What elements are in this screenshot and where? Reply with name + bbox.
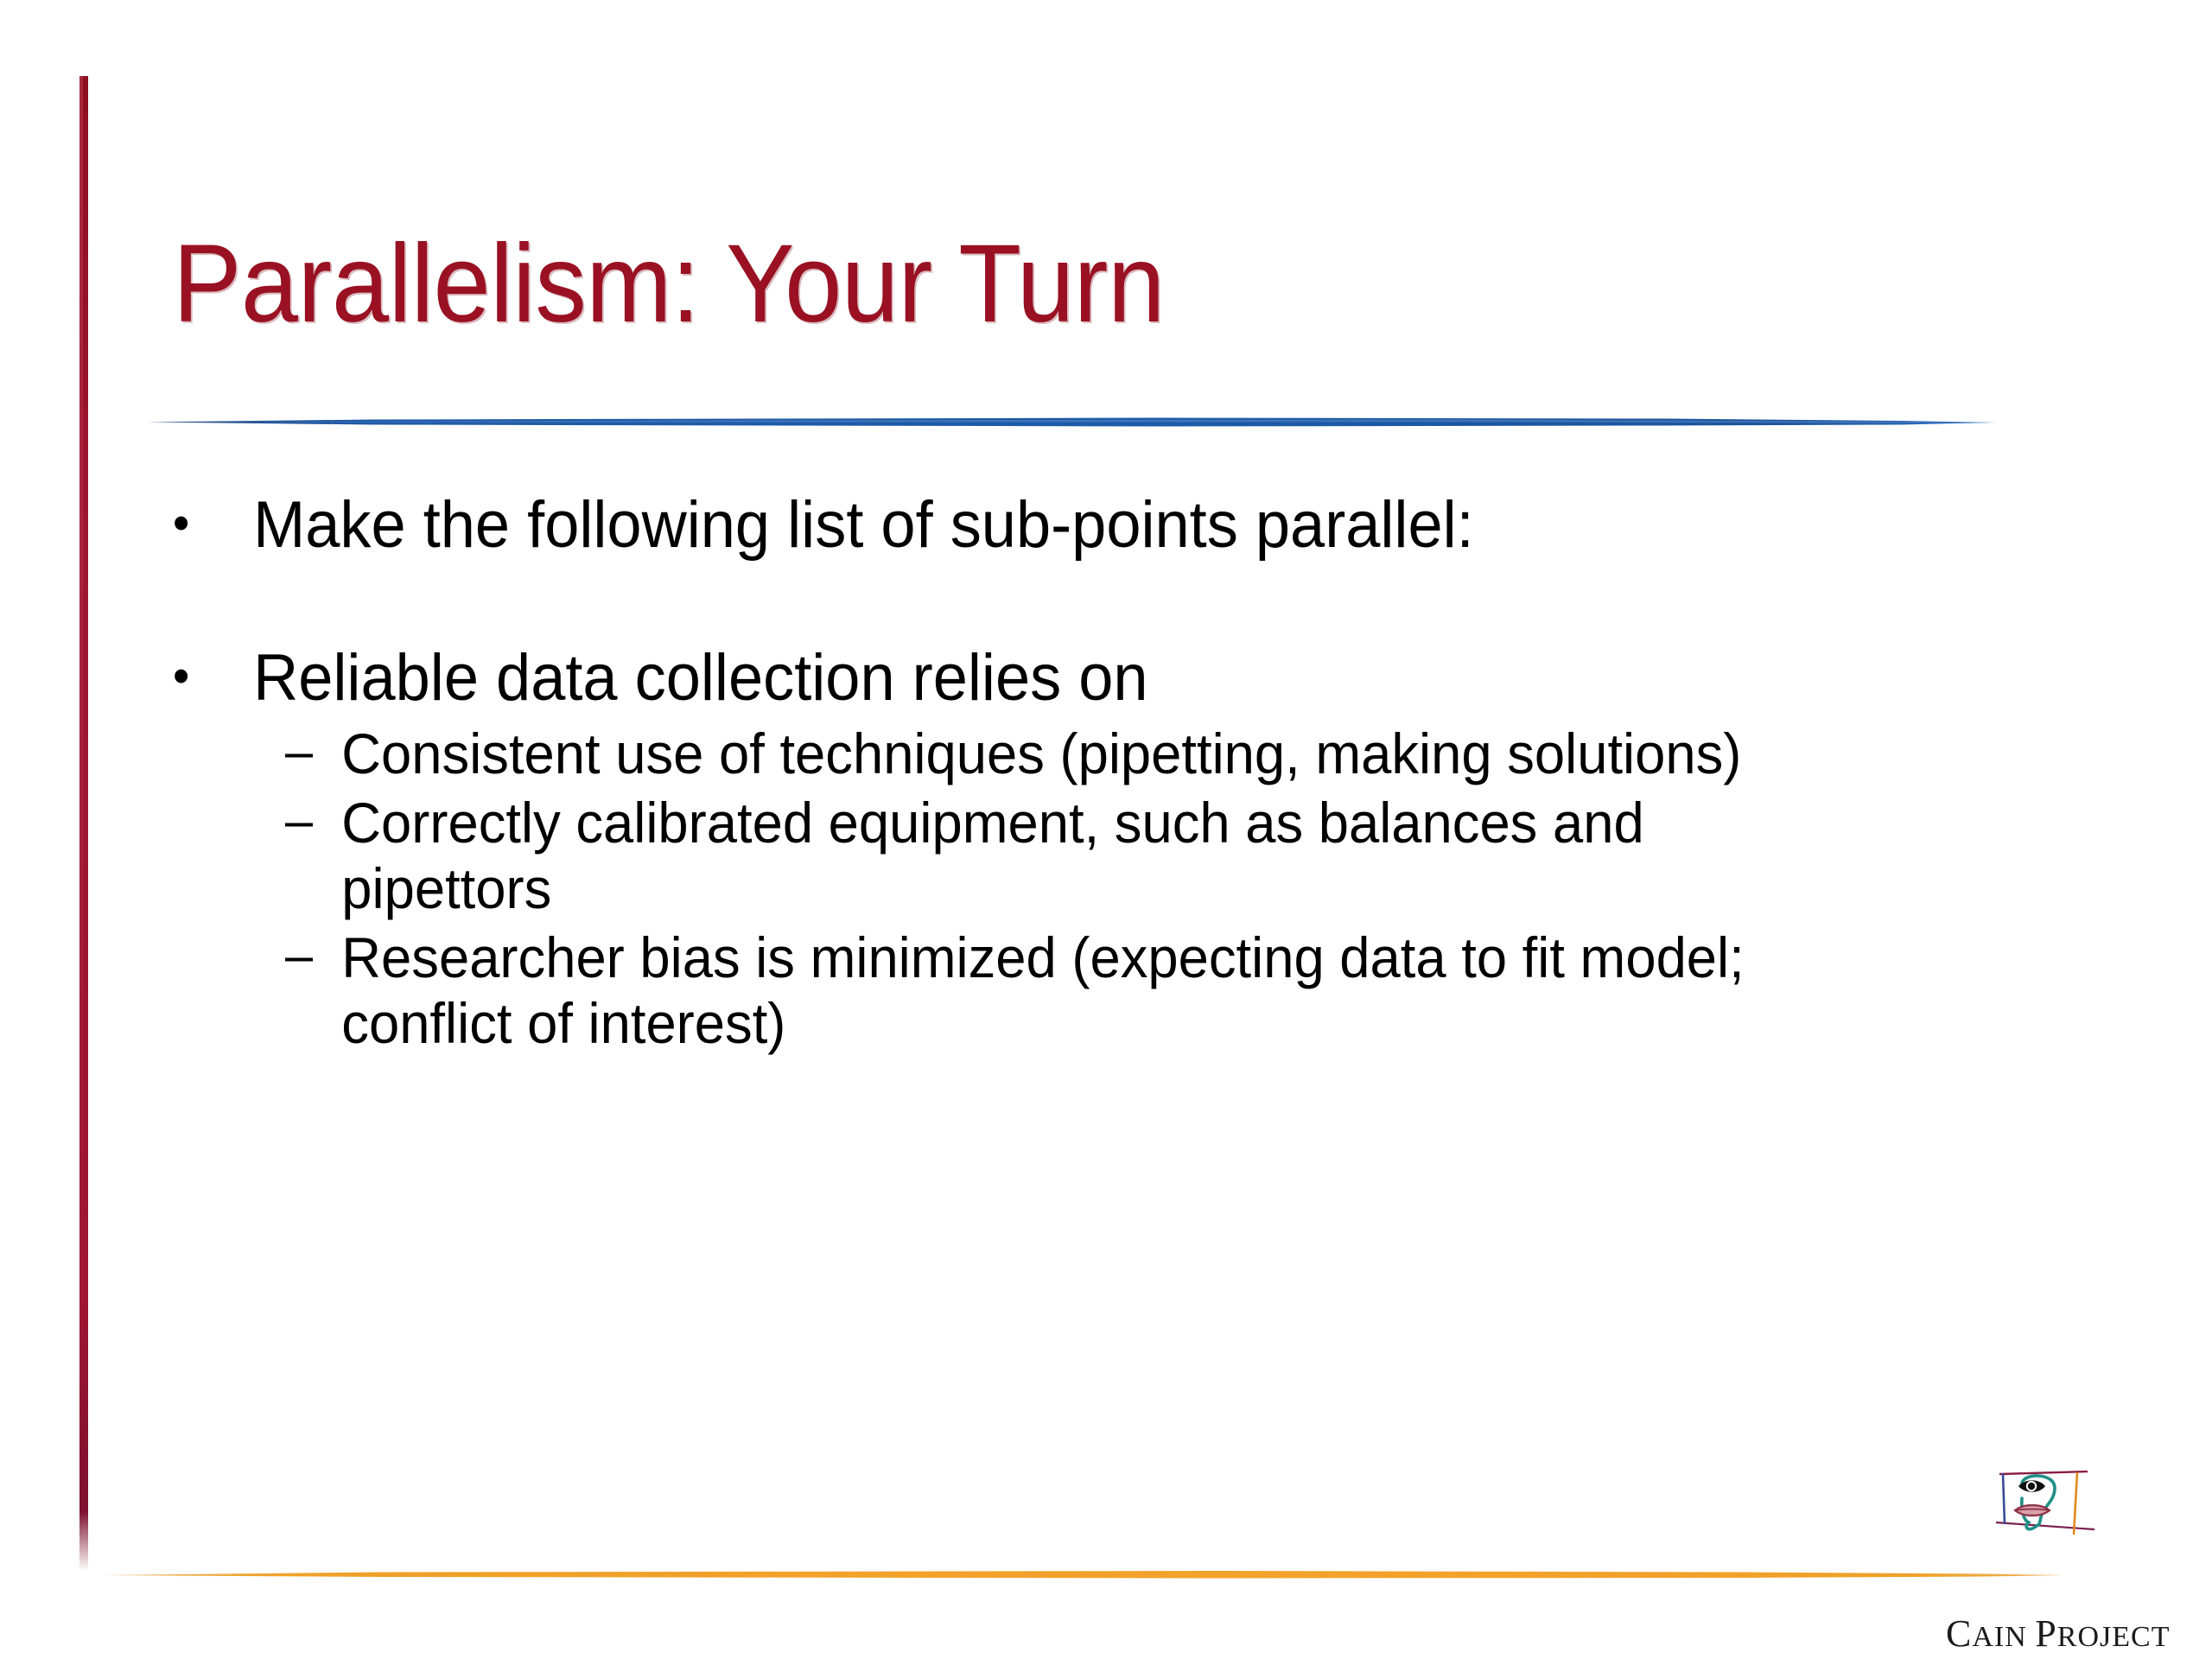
page-title: Parallelism: Your Turn xyxy=(173,229,1165,340)
bullet-spacer xyxy=(173,569,2117,641)
wordmark-ain: AIN xyxy=(1972,1621,2026,1653)
footer-divider xyxy=(104,1566,2065,1585)
slide-canvas: Parallelism: Your Turn • Make the follow… xyxy=(0,0,2212,1659)
face-mark-svg xyxy=(1991,1469,2103,1580)
bullet-item: • Make the following list of sub-points … xyxy=(173,488,2020,562)
sub-bullet-item: – Consistent use of techniques (pipettin… xyxy=(285,721,2044,787)
bullet-marker: • xyxy=(173,641,253,712)
sub-bullet-marker: – xyxy=(285,721,341,783)
divider-shape xyxy=(147,411,1996,434)
cain-project-wordmark: CAIN PROJECT xyxy=(1946,1611,2205,1656)
cain-project-logo: CAIN PROJECT xyxy=(1946,1469,2205,1659)
sub-bullet-text: Correctly calibrated equipment, such as … xyxy=(341,791,1834,922)
sub-bullet-text: Researcher bias is minimized (expecting … xyxy=(341,925,1834,1057)
slide-body: • Make the following list of sub-points … xyxy=(173,488,2117,1060)
bullet-text: Reliable data collection relies on xyxy=(253,641,2019,715)
wordmark-roject: ROJECT xyxy=(2057,1621,2171,1653)
title-divider xyxy=(147,411,1996,434)
cain-project-face-icon xyxy=(1991,1469,2103,1580)
left-accent-bar xyxy=(79,76,88,1571)
sub-bullet-text: Consistent use of techniques (pipetting,… xyxy=(341,721,1834,787)
sub-bullet-item: – Correctly calibrated equipment, such a… xyxy=(285,791,2044,922)
footer-divider-shape xyxy=(104,1566,2065,1585)
wordmark-c: C xyxy=(1946,1612,1972,1655)
sub-bullet-marker: – xyxy=(285,791,341,852)
wordmark-space xyxy=(2027,1621,2036,1653)
sub-bullet-marker: – xyxy=(285,925,341,987)
bullet-text: Make the following list of sub-points pa… xyxy=(253,488,2019,562)
bullet-marker: • xyxy=(173,488,253,559)
sub-bullet-item: – Researcher bias is minimized (expectin… xyxy=(285,925,2044,1057)
wordmark-p: P xyxy=(2035,1612,2056,1655)
bullet-item: • Reliable data collection relies on xyxy=(173,641,2020,715)
